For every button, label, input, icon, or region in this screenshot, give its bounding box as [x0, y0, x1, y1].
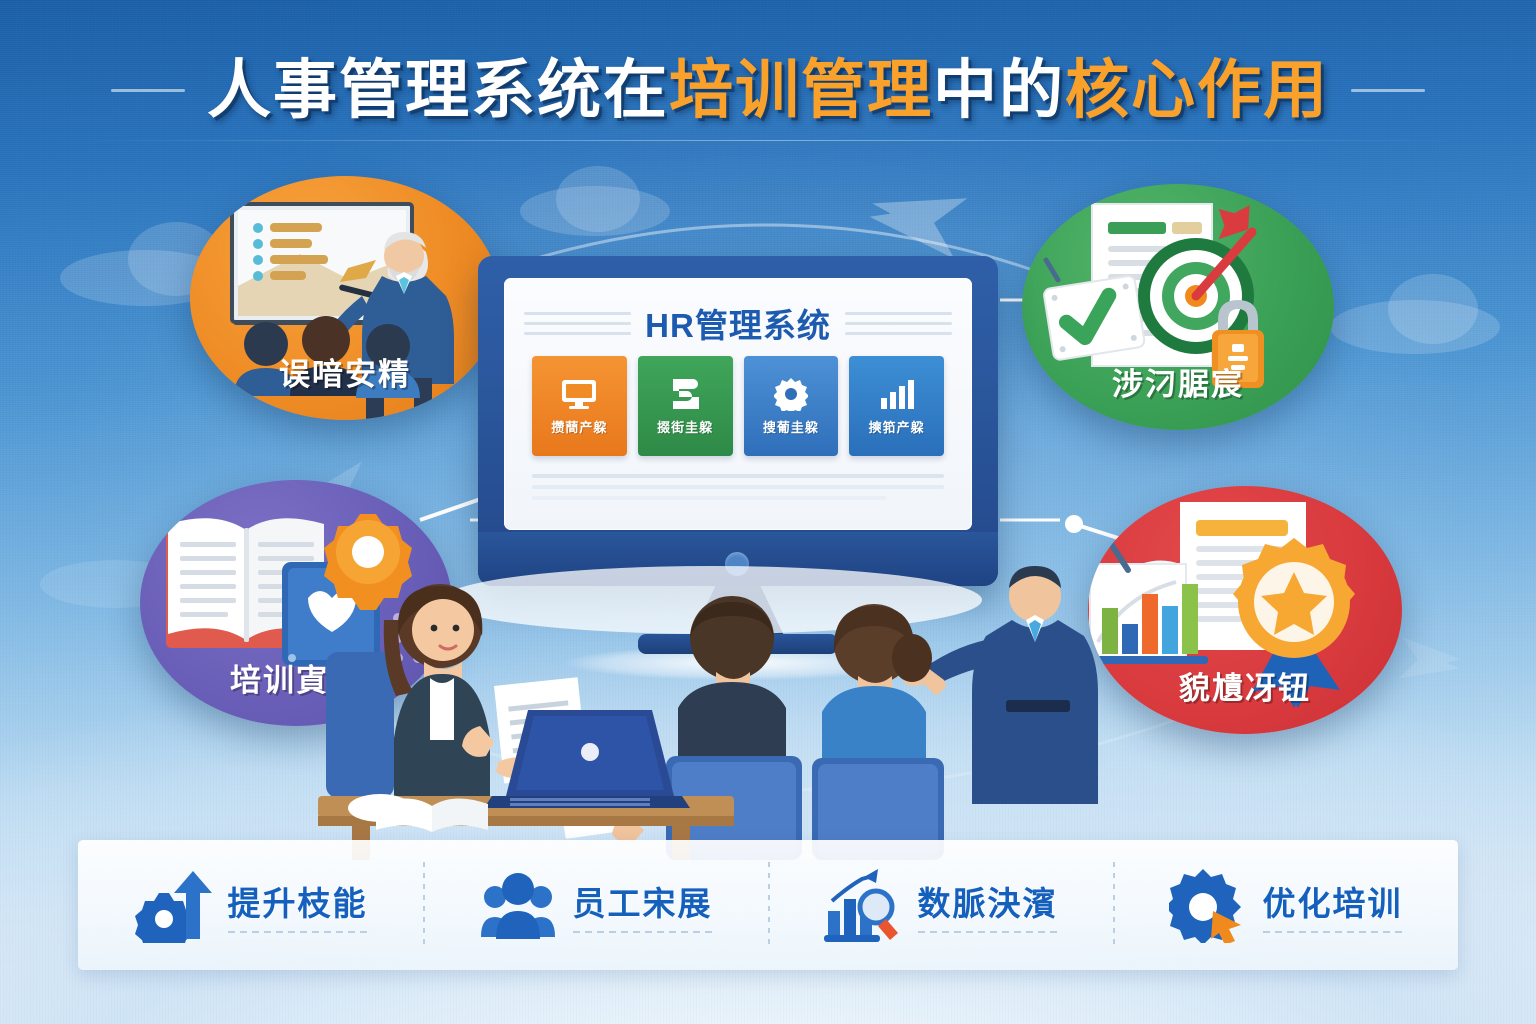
title-segment-3: 中的 [933, 54, 1065, 126]
benefit-label-4: 优化培训 [1263, 877, 1403, 925]
module-tile-3-label: 搜葡圭躱 [763, 417, 819, 436]
benefit-label-2: 员工宋展 [573, 877, 713, 925]
infographic-canvas: 人事管理系统在培训管理中的核心作用 [0, 0, 1536, 1024]
module-tile-4-label: 摤筘产躱 [869, 417, 925, 436]
benefit-text-1: 提升枝能 [228, 877, 368, 933]
module-tiles: 攒蕳产躱 掇街圭躱 搜葡圭躱 [532, 356, 944, 456]
benefit-item-2[interactable]: 员工宋展 [423, 840, 768, 970]
content-placeholder-lines [532, 474, 944, 500]
system-title-row: HR管理系统 [524, 300, 952, 346]
node-label-green: 涉汈腒宸 [1022, 359, 1334, 404]
page-title: 人事管理系统在培训管理中的核心作用 [207, 58, 1329, 122]
benefit-item-4[interactable]: 优化培训 [1113, 840, 1458, 970]
node-course-arrangement[interactable]: 误喑安精 [190, 176, 500, 420]
benefit-rule-4 [1263, 931, 1403, 933]
node-assessment-standards[interactable]: 涉汈腒宸 [1022, 184, 1334, 430]
benefit-text-4: 优化培训 [1263, 877, 1403, 933]
gear-icon [771, 377, 811, 411]
title-underline [70, 140, 1466, 141]
title-rules-left [524, 312, 631, 335]
node-performance-certification[interactable]: 貌尵冴钮 [1088, 486, 1402, 734]
benefit-rule-2 [573, 931, 713, 933]
gear-cursor-icon [1169, 867, 1247, 943]
benefit-text-3: 数脈決濱 [918, 877, 1058, 933]
monitor-icon [559, 377, 599, 411]
benefit-text-2: 员工宋展 [573, 877, 713, 933]
module-tile-2-label: 掇街圭躱 [657, 417, 713, 436]
seated-woman [812, 604, 944, 860]
benefit-rule-3 [918, 931, 1058, 933]
people-group-icon [479, 867, 557, 943]
document-icon [665, 377, 705, 411]
benefit-item-1[interactable]: 提升枝能 [78, 840, 423, 970]
title-rule-right [1351, 89, 1425, 92]
title-segment-1: 人事管理系统在 [207, 54, 669, 126]
module-tile-4[interactable]: 摤筘产躱 [849, 356, 944, 456]
module-tile-2[interactable]: 掇街圭躱 [638, 356, 733, 456]
node-label-red: 貌尵冴钮 [1088, 663, 1402, 708]
module-tile-1[interactable]: 攒蕳产躱 [532, 356, 627, 456]
benefit-rule-1 [228, 931, 368, 933]
monitor-screen[interactable]: HR管理系统 攒蕳产躱 掇街圭躱 [504, 278, 972, 530]
benefit-label-1: 提升枝能 [228, 877, 368, 925]
benefits-bar: 提升枝能 员工宋展 [78, 840, 1458, 970]
module-tile-1-label: 攒蕳产躱 [551, 417, 607, 436]
benefit-item-3[interactable]: 数脈決濱 [768, 840, 1113, 970]
title-rules-right [845, 312, 952, 335]
title-segment-4: 核心作用 [1065, 54, 1329, 126]
module-tile-3[interactable]: 搜葡圭躱 [744, 356, 839, 456]
page-title-row: 人事管理系统在培训管理中的核心作用 [0, 38, 1536, 142]
chart-magnifier-icon [824, 867, 902, 943]
title-segment-2: 培训管理 [669, 54, 933, 126]
node-label-orange: 误喑安精 [190, 349, 500, 394]
benefit-label-3: 数脈決濱 [918, 877, 1058, 925]
system-title: HR管理系统 [645, 299, 831, 347]
bar-chart-icon [877, 377, 917, 411]
meeting-scene-illustration [312, 560, 1112, 860]
gear-arrow-up-icon [134, 867, 212, 943]
title-rule-left [111, 89, 185, 92]
